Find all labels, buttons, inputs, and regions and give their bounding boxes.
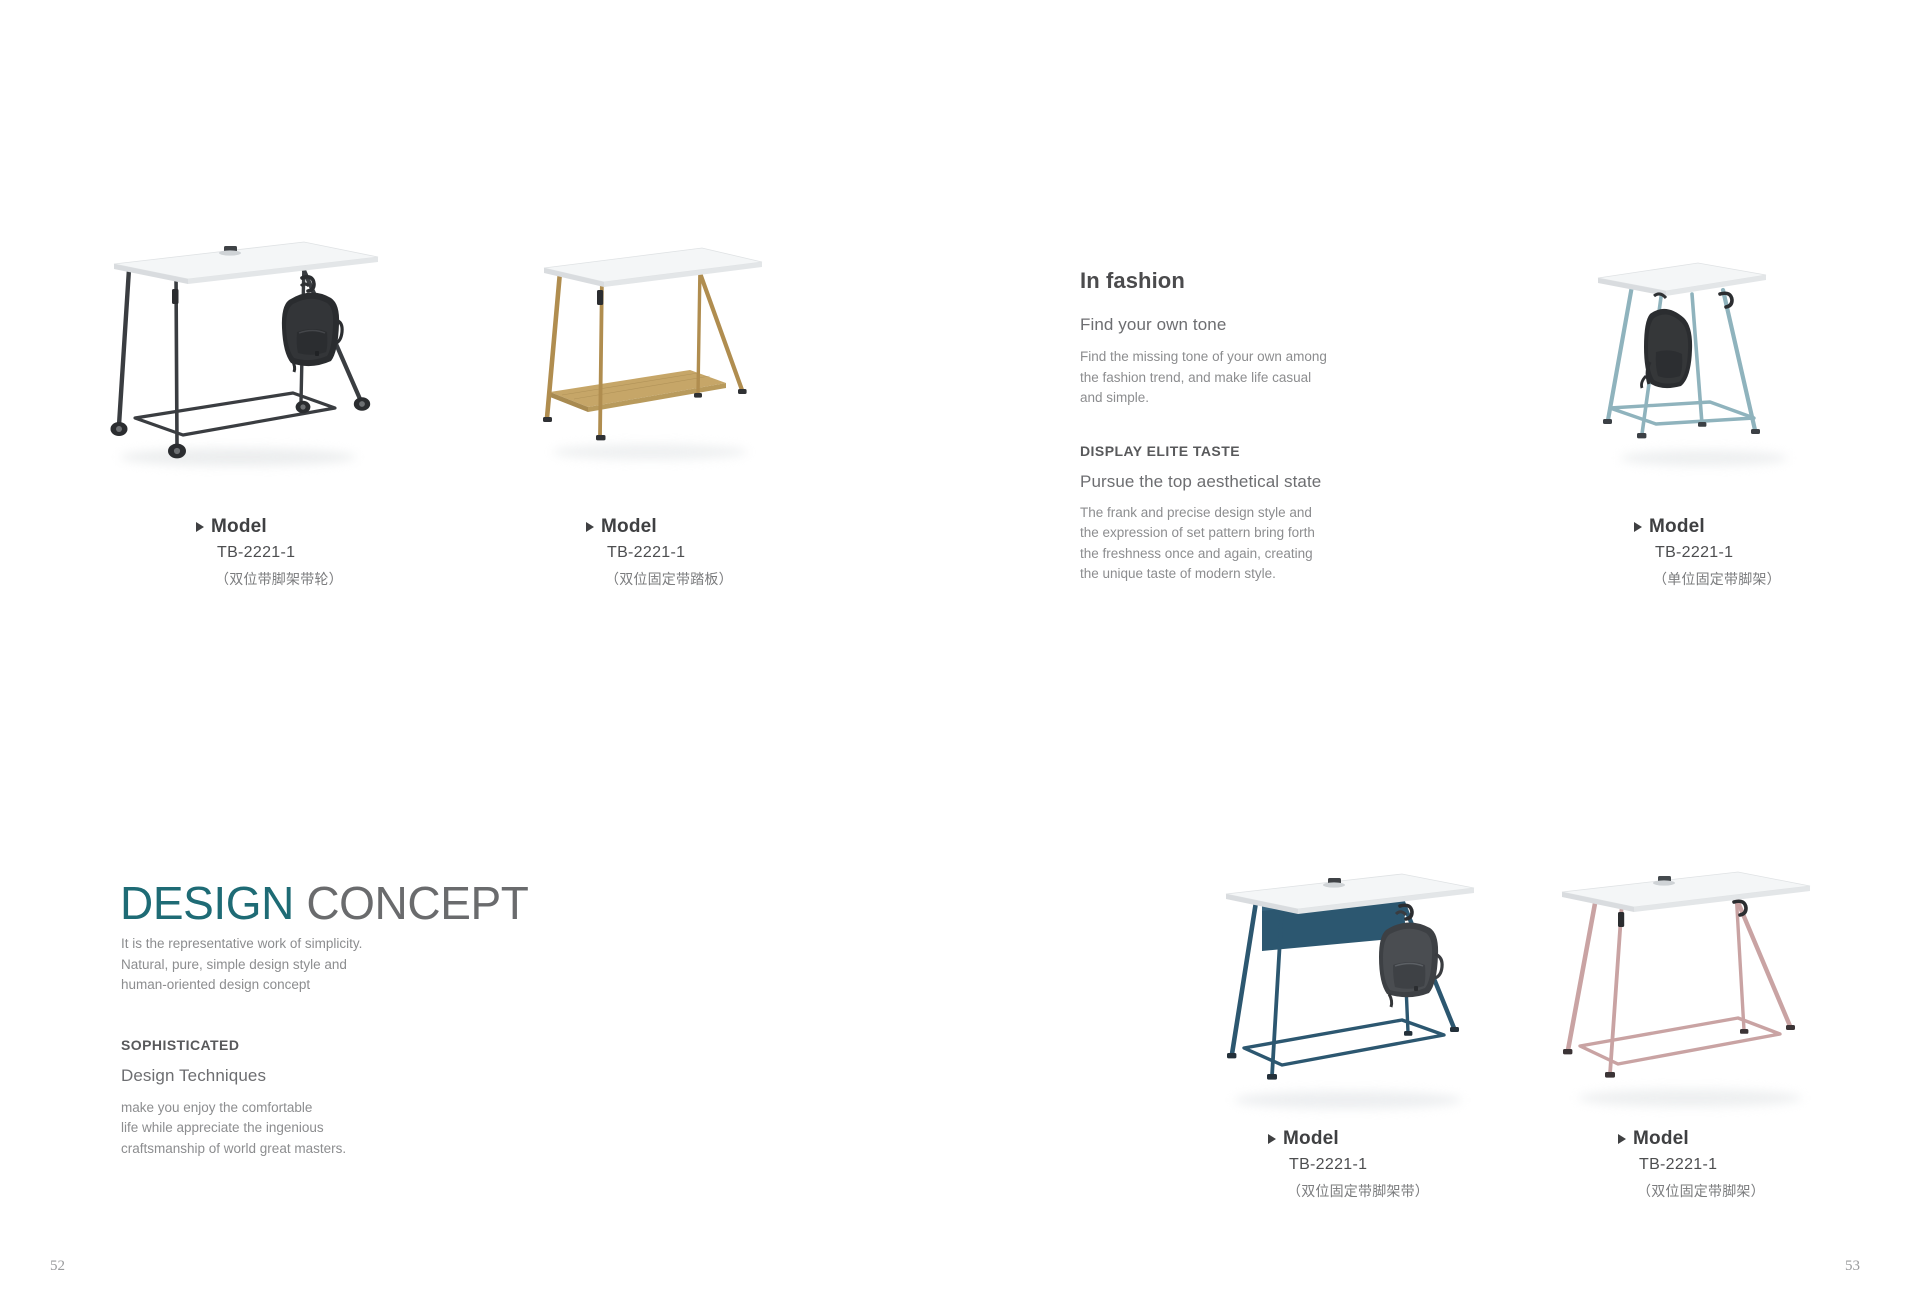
caption-desk-lightblue-single: Model TB-2221-1 （单位固定带脚架） [1634,516,1781,589]
caption-desk-rose-frame: Model TB-2221-1 （双位固定带脚架） [1618,1128,1765,1201]
page-number-left: 52 [50,1258,65,1275]
display-elite-taste-subheading: Pursue the top aesthetical state [1080,472,1360,492]
model-spec: （双位固定带脚架带） [1287,1181,1429,1201]
caption-desk-teal-panel: Model TB-2221-1 （双位固定带脚架带） [1268,1128,1429,1201]
design-concept-intro: It is the representative work of simplic… [121,934,421,996]
product-image-desk-rose-frame [1548,868,1838,1118]
in-fashion-paragraph: Find the missing tone of your own among … [1080,347,1360,409]
model-spec: （双位带脚架带轮） [215,569,343,589]
model-label: Model [1633,1128,1689,1150]
backpack-black [1642,294,1693,388]
in-fashion-heading: In fashion [1080,268,1360,294]
model-label: Model [601,516,657,538]
design-concept-title-rest: CONCEPT [306,877,528,929]
model-label: Model [1283,1128,1339,1150]
design-concept-block: It is the representative work of simplic… [121,934,421,1159]
triangle-bullet-icon [1618,1134,1626,1144]
model-code: TB-2221-1 [1655,544,1781,562]
model-label: Model [211,516,267,538]
design-concept-title: DESIGN CONCEPT [120,876,528,930]
model-spec: （单位固定带脚架） [1653,569,1781,589]
model-code: TB-2221-1 [217,544,343,562]
model-code: TB-2221-1 [1639,1156,1765,1174]
sophisticated-paragraph: make you enjoy the comfortable life whil… [121,1098,421,1160]
model-spec: （双位固定带脚架） [1637,1181,1765,1201]
model-spec: （双位固定带踏板） [605,569,733,589]
triangle-bullet-icon [1634,522,1642,532]
triangle-bullet-icon [586,522,594,532]
model-code: TB-2221-1 [607,544,733,562]
product-image-desk-lightblue-single [1592,252,1822,472]
display-elite-taste-heading: DISPLAY ELITE TASTE [1080,443,1360,459]
sophisticated-subheading: Design Techniques [121,1066,421,1086]
page-number-right: 53 [1845,1258,1860,1275]
in-fashion-subheading: Find your own tone [1080,315,1360,335]
model-code: TB-2221-1 [1289,1156,1429,1174]
design-concept-title-accent: DESIGN [120,877,294,929]
caption-desk-brass-footrest: Model TB-2221-1 （双位固定带踏板） [586,516,733,589]
backpack-black [282,284,342,372]
product-image-desk-brass-footrest [530,240,770,470]
model-label: Model [1649,516,1705,538]
display-elite-taste-paragraph: The frank and precise design style and t… [1080,503,1360,585]
in-fashion-block: In fashion Find your own tone Find the m… [1080,268,1360,585]
triangle-bullet-icon [1268,1134,1276,1144]
catalog-spread: Model TB-2221-1 （双位带脚架带轮） [0,0,1920,1303]
triangle-bullet-icon [196,522,204,532]
caption-desk-black-casters: Model TB-2221-1 （双位带脚架带轮） [196,516,343,589]
sophisticated-heading: SOPHISTICATED [121,1037,421,1053]
product-image-desk-teal-panel [1206,868,1496,1118]
product-image-desk-black-casters [88,232,388,472]
